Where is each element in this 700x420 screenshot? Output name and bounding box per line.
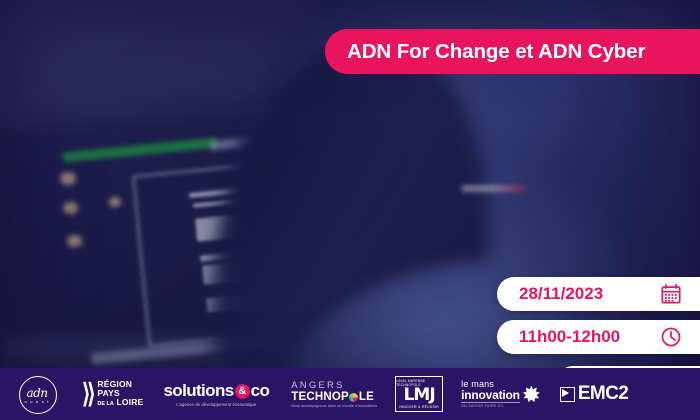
region-wordmark: RÉGION PAYS DE LA LOIRE bbox=[97, 380, 143, 408]
le-mans-line-2: innovation bbox=[461, 389, 520, 404]
partner-logo-bar: adn o u e s t ⟩⟩ RÉGION PAYS DE LA LOIRE… bbox=[0, 368, 700, 420]
logo-laval-mayenne-technopole[interactable]: LAVAL MAYENNE TECHNOPOLE LMJ INNOVER & R… bbox=[395, 376, 443, 412]
event-title-banner: ADN For Change et ADN Cyber bbox=[325, 29, 700, 74]
logo-region-pays-de-la-loire[interactable]: ⟩⟩ RÉGION PAYS DE LA LOIRE bbox=[82, 380, 143, 408]
event-title: ADN For Change et ADN Cyber bbox=[347, 40, 645, 64]
logo-adn-ouest[interactable]: adn o u e s t bbox=[0, 374, 60, 414]
solutions-ampersand-icon: & bbox=[235, 384, 250, 399]
le-mans-tagline: ON SAVOIR FAIRE ICI bbox=[461, 404, 520, 408]
angers-word-part-2: LE bbox=[359, 391, 374, 403]
region-line-3-small: DE LA bbox=[97, 401, 114, 407]
solutions-tagline: L'agence de développement économique bbox=[176, 402, 256, 407]
logo-le-mans-innovation[interactable]: le mans innovation ON SAVOIR FAIRE ICI bbox=[461, 380, 540, 409]
solutions-wordmark: solutions & co bbox=[163, 381, 269, 401]
logo-angers-technopole[interactable]: ANGERS TECHNOP LE Nous accompagnons dans… bbox=[291, 380, 377, 408]
angers-line-2: TECHNOP LE bbox=[291, 391, 374, 403]
solutions-word-1: solutions bbox=[163, 381, 233, 401]
le-mans-wordmark: le mans innovation ON SAVOIR FAIRE ICI bbox=[461, 380, 520, 409]
clock-icon bbox=[660, 326, 682, 348]
event-date-label: 28/11/2023 bbox=[519, 284, 603, 304]
emc2-arrow-icon bbox=[560, 387, 575, 402]
angers-tagline: Nous accompagnons dans un monde d'innova… bbox=[291, 404, 377, 408]
pinwheel-icon bbox=[349, 393, 358, 402]
lmj-tagline: INNOVER & RÉUSSIR bbox=[399, 405, 439, 409]
event-time-pill: 11h00-12h00 bbox=[497, 320, 700, 354]
angers-line-1: ANGERS bbox=[291, 380, 344, 391]
angers-word-part-1: TECHNOP bbox=[291, 391, 349, 403]
adn-subtitle: o u e s t bbox=[16, 399, 58, 404]
adn-wordmark: adn bbox=[16, 386, 58, 400]
calendar-icon bbox=[660, 283, 682, 305]
starburst-icon bbox=[523, 386, 540, 403]
lmj-monogram: LMJ bbox=[404, 387, 435, 405]
region-line-3: LOIRE bbox=[116, 397, 143, 407]
logo-emc2[interactable]: EMC2 bbox=[560, 383, 628, 405]
event-date-pill: 28/11/2023 bbox=[497, 277, 700, 311]
event-banner-card: ADN For Change et ADN Cyber 28/11/2023 bbox=[0, 0, 700, 420]
solutions-word-2: co bbox=[251, 381, 270, 401]
logo-solutions-et-co[interactable]: solutions & co L'agence de développement… bbox=[163, 381, 269, 407]
emc2-wordmark: EMC2 bbox=[578, 383, 628, 405]
event-time-label: 11h00-12h00 bbox=[519, 327, 620, 347]
region-chevrons-icon: ⟩⟩ bbox=[82, 381, 92, 407]
